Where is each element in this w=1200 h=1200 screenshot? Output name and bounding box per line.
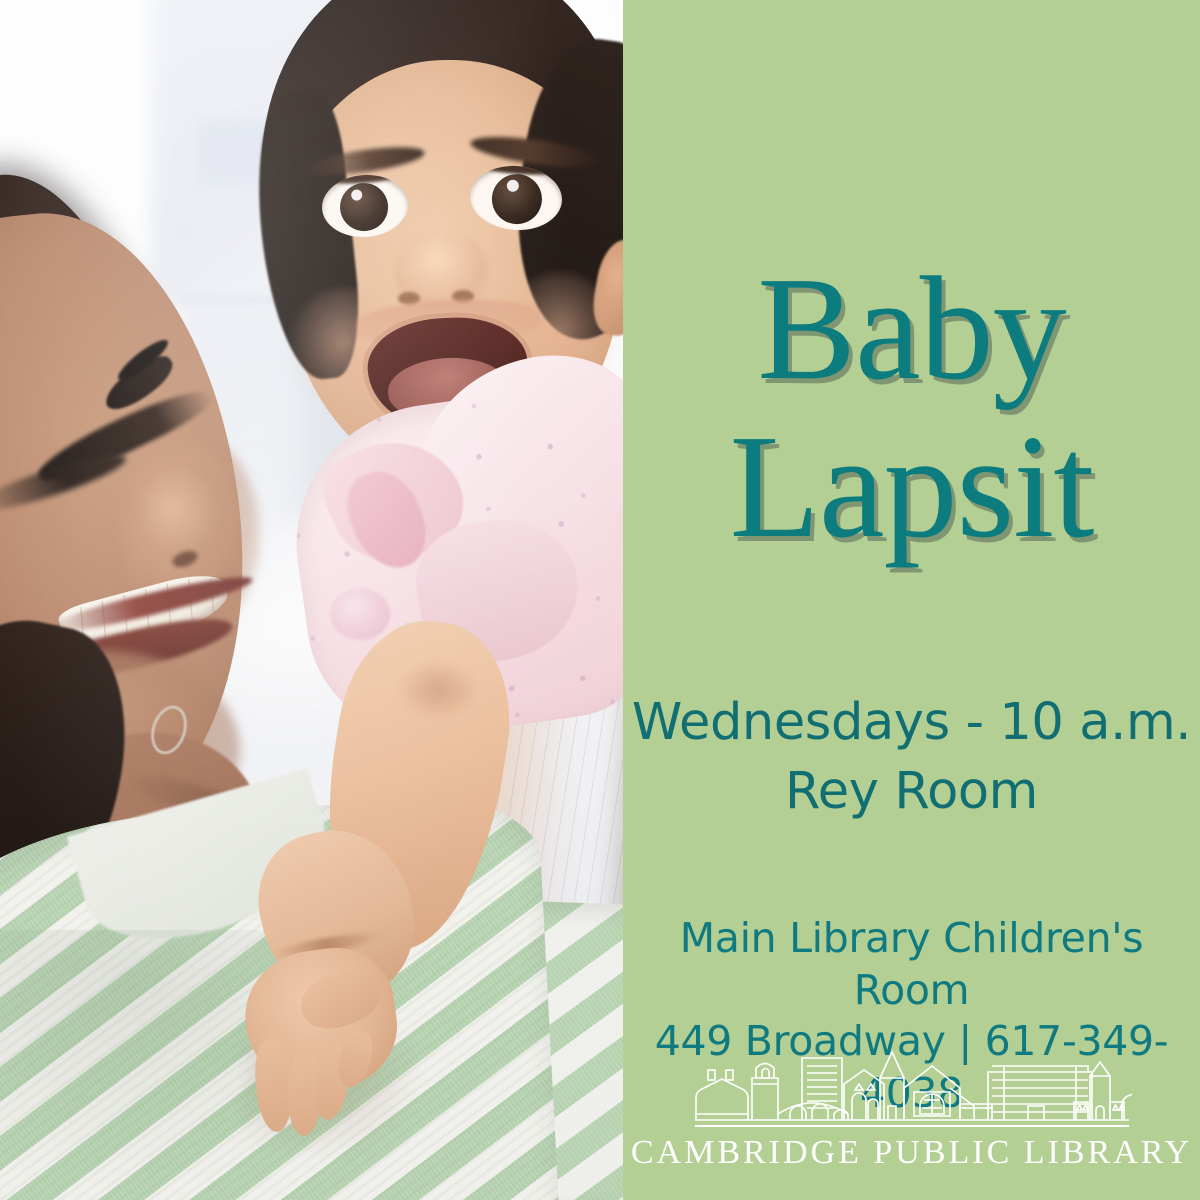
- library-logo: CAMBRIDGE PUBLIC LIBRARY: [623, 1048, 1200, 1172]
- schedule-info: Wednesdays - 10 a.m. Rey Room: [623, 688, 1200, 827]
- baby-elbow-shading: [398, 660, 478, 720]
- info-panel: Baby Lapsit Wednesdays - 10 a.m. Rey Roo…: [623, 0, 1200, 1200]
- baby-iris-left: [338, 181, 389, 232]
- program-title: Baby Lapsit: [623, 258, 1200, 558]
- program-title-line-1: Baby: [623, 258, 1200, 400]
- program-title-line-2: Lapsit: [623, 416, 1200, 558]
- venue-name: Main Library Children's Room: [623, 913, 1200, 1016]
- event-photo: [0, 0, 623, 1200]
- logo-wordmark: CAMBRIDGE PUBLIC LIBRARY: [631, 1134, 1192, 1172]
- baby-onesie-balloon-motif: [330, 588, 390, 640]
- city-skyline-icon: [692, 1048, 1132, 1126]
- baby-lapsit-poster: Baby Lapsit Wednesdays - 10 a.m. Rey Roo…: [0, 0, 1200, 1200]
- logo-divider: [695, 1125, 1129, 1127]
- schedule-location-room: Rey Room: [623, 757, 1200, 826]
- schedule-day-time: Wednesdays - 10 a.m.: [623, 688, 1200, 757]
